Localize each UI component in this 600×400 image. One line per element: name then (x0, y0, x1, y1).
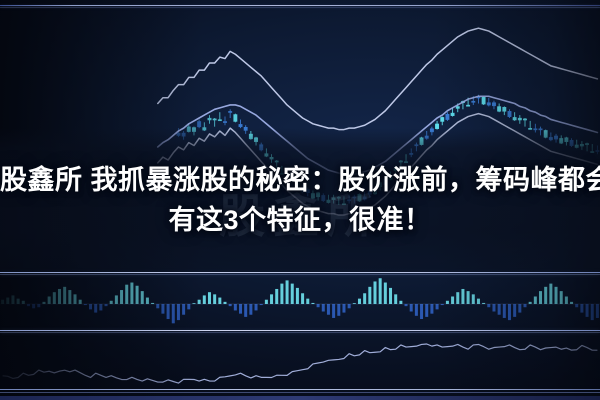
divider-top (0, 5, 600, 6)
divider-macd-oscillator (0, 330, 600, 331)
divider-bottom-shadow (0, 392, 600, 393)
divider-top-shadow (0, 7, 600, 8)
headline-line-1: 股鑫所 我抓暴涨股的秘密：股价涨前，筹码峰都会 (0, 160, 600, 200)
divider-bottom (0, 389, 600, 390)
divider-price-macd (0, 272, 600, 273)
bottom-edge-band (0, 396, 600, 400)
divider-price-macd-shadow (0, 274, 600, 275)
headline: 股鑫所 我抓暴涨股的秘密：股价涨前，筹码峰都会 有这3个特征，很准！ (0, 160, 600, 240)
divider-macd-oscillator-shadow (0, 332, 600, 333)
stock-chart-banner: 股鑫所 股鑫所 我抓暴涨股的秘密：股价涨前，筹码峰都会 有这3个特征，很准！ (0, 0, 600, 400)
headline-line-2: 有这3个特征，很准！ (0, 200, 600, 240)
